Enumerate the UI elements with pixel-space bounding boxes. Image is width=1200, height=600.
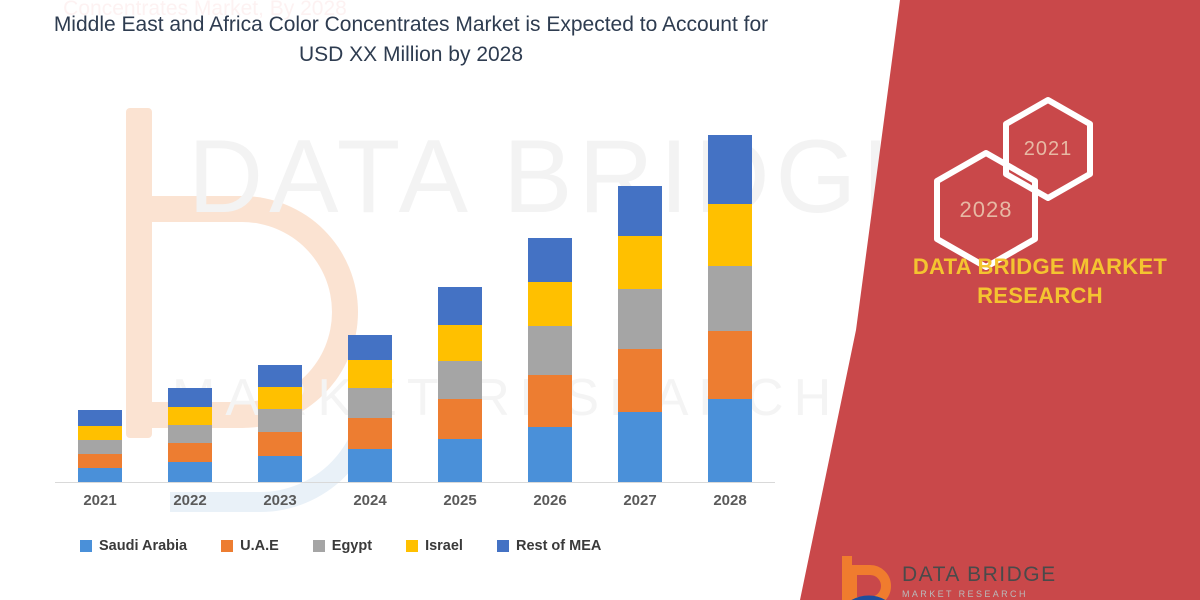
legend-label: U.A.E — [240, 538, 279, 554]
stacked-bar[interactable] — [618, 186, 662, 482]
legend-item-rest-of-mea[interactable]: Rest of MEA — [497, 538, 601, 554]
data-bridge-logo-icon — [840, 556, 892, 600]
legend-swatch-icon — [221, 540, 233, 552]
bar-segment-u-a-e[interactable] — [708, 331, 752, 399]
bar-segment-rest-of-mea[interactable] — [438, 287, 482, 325]
x-tick-2021: 2021 — [55, 492, 145, 516]
chart-panel: DATA BRIDGE MARKET RESEARCH Middle East … — [0, 0, 880, 600]
x-axis-tick-labels: 20212022202320242025202620272028 — [55, 492, 775, 516]
bar-segment-egypt[interactable] — [528, 326, 572, 375]
bar-segment-rest-of-mea[interactable] — [168, 388, 212, 407]
x-tick-2022: 2022 — [145, 492, 235, 516]
bar-segment-saudi-arabia[interactable] — [78, 468, 122, 482]
stacked-bar[interactable] — [528, 238, 572, 482]
bar-segment-u-a-e[interactable] — [168, 443, 212, 462]
bar-segment-israel[interactable] — [78, 426, 122, 440]
legend-item-u-a-e[interactable]: U.A.E — [221, 538, 279, 554]
stacked-bar[interactable] — [708, 135, 752, 482]
logo-wordmark: DATA BRIDGE MARKET RESEARCH — [902, 563, 1057, 599]
legend-item-egypt[interactable]: Egypt — [313, 538, 372, 554]
chart-legend: Saudi ArabiaU.A.EEgyptIsraelRest of MEA — [80, 538, 760, 554]
legend-swatch-icon — [406, 540, 418, 552]
bar-segment-egypt[interactable] — [438, 361, 482, 399]
legend-label: Egypt — [332, 538, 372, 554]
bar-segment-israel[interactable] — [618, 236, 662, 289]
stacked-bar[interactable] — [78, 410, 122, 482]
bar-group-2025 — [415, 287, 505, 482]
bar-group-2028 — [685, 135, 775, 482]
bar-segment-egypt[interactable] — [708, 266, 752, 331]
bar-segment-u-a-e[interactable] — [528, 375, 572, 427]
bar-group-2021 — [55, 410, 145, 482]
bar-segment-u-a-e[interactable] — [78, 454, 122, 468]
bar-segment-israel[interactable] — [528, 282, 572, 326]
bar-segment-rest-of-mea[interactable] — [348, 335, 392, 360]
bar-segment-israel[interactable] — [348, 360, 392, 388]
bar-segment-saudi-arabia[interactable] — [258, 456, 302, 482]
bar-segment-egypt[interactable] — [348, 388, 392, 418]
bar-segment-israel[interactable] — [258, 387, 302, 409]
bar-segment-saudi-arabia[interactable] — [618, 412, 662, 482]
bar-segment-israel[interactable] — [168, 407, 212, 425]
bar-segment-u-a-e[interactable] — [618, 349, 662, 412]
hexagon-2021: 2021 — [1000, 96, 1096, 202]
logo-title: DATA BRIDGE — [902, 563, 1057, 587]
stacked-bar[interactable] — [438, 287, 482, 482]
brand-name: DATA BRIDGE MARKET RESEARCH — [880, 252, 1200, 310]
bar-segment-u-a-e[interactable] — [258, 432, 302, 456]
x-tick-2028: 2028 — [685, 492, 775, 516]
bar-segment-egypt[interactable] — [258, 409, 302, 432]
x-tick-2024: 2024 — [325, 492, 415, 516]
bar-segment-u-a-e[interactable] — [348, 418, 392, 449]
bar-segment-israel[interactable] — [438, 325, 482, 361]
bar-group-2026 — [505, 238, 595, 482]
stacked-bar[interactable] — [348, 335, 392, 482]
bar-segment-egypt[interactable] — [168, 425, 212, 443]
x-tick-2027: 2027 — [595, 492, 685, 516]
x-tick-2026: 2026 — [505, 492, 595, 516]
stacked-bar[interactable] — [258, 365, 302, 482]
bar-segment-saudi-arabia[interactable] — [438, 439, 482, 482]
bar-segment-israel[interactable] — [708, 204, 752, 266]
bar-group-2027 — [595, 186, 685, 482]
plot-area — [55, 95, 775, 483]
legend-swatch-icon — [313, 540, 325, 552]
legend-swatch-icon — [497, 540, 509, 552]
bar-group-2024 — [325, 335, 415, 482]
x-tick-2025: 2025 — [415, 492, 505, 516]
bar-segment-rest-of-mea[interactable] — [708, 135, 752, 204]
x-tick-2023: 2023 — [235, 492, 325, 516]
bar-segment-saudi-arabia[interactable] — [348, 449, 392, 482]
logo-lockup: DATA BRIDGE MARKET RESEARCH — [840, 556, 1057, 600]
legend-item-israel[interactable]: Israel — [406, 538, 463, 554]
bar-segment-saudi-arabia[interactable] — [528, 427, 572, 482]
legend-label: Rest of MEA — [516, 538, 601, 554]
legend-label: Israel — [425, 538, 463, 554]
hexagon-2021-label: 2021 — [1024, 138, 1073, 161]
x-axis-line — [55, 482, 775, 483]
legend-label: Saudi Arabia — [99, 538, 187, 554]
legend-item-saudi-arabia[interactable]: Saudi Arabia — [80, 538, 187, 554]
bar-segment-egypt[interactable] — [78, 440, 122, 454]
bar-segment-egypt[interactable] — [618, 289, 662, 349]
bar-group-2023 — [235, 365, 325, 482]
bar-segment-rest-of-mea[interactable] — [258, 365, 302, 387]
bar-segment-rest-of-mea[interactable] — [528, 238, 572, 282]
infographic-canvas: DATA BRIDGE MARKET RESEARCH Middle East … — [0, 0, 1200, 600]
bar-group-2022 — [145, 388, 235, 482]
bar-segment-saudi-arabia[interactable] — [168, 462, 212, 482]
bar-segment-u-a-e[interactable] — [438, 399, 482, 439]
logo-subtitle: MARKET RESEARCH — [902, 589, 1057, 599]
brand-panel-title: Concentrates Market, By 2028 — [40, 0, 370, 24]
stacked-bar[interactable] — [168, 388, 212, 482]
bar-segment-rest-of-mea[interactable] — [78, 410, 122, 426]
bar-segment-rest-of-mea[interactable] — [618, 186, 662, 236]
bar-segment-saudi-arabia[interactable] — [708, 399, 752, 482]
legend-swatch-icon — [80, 540, 92, 552]
